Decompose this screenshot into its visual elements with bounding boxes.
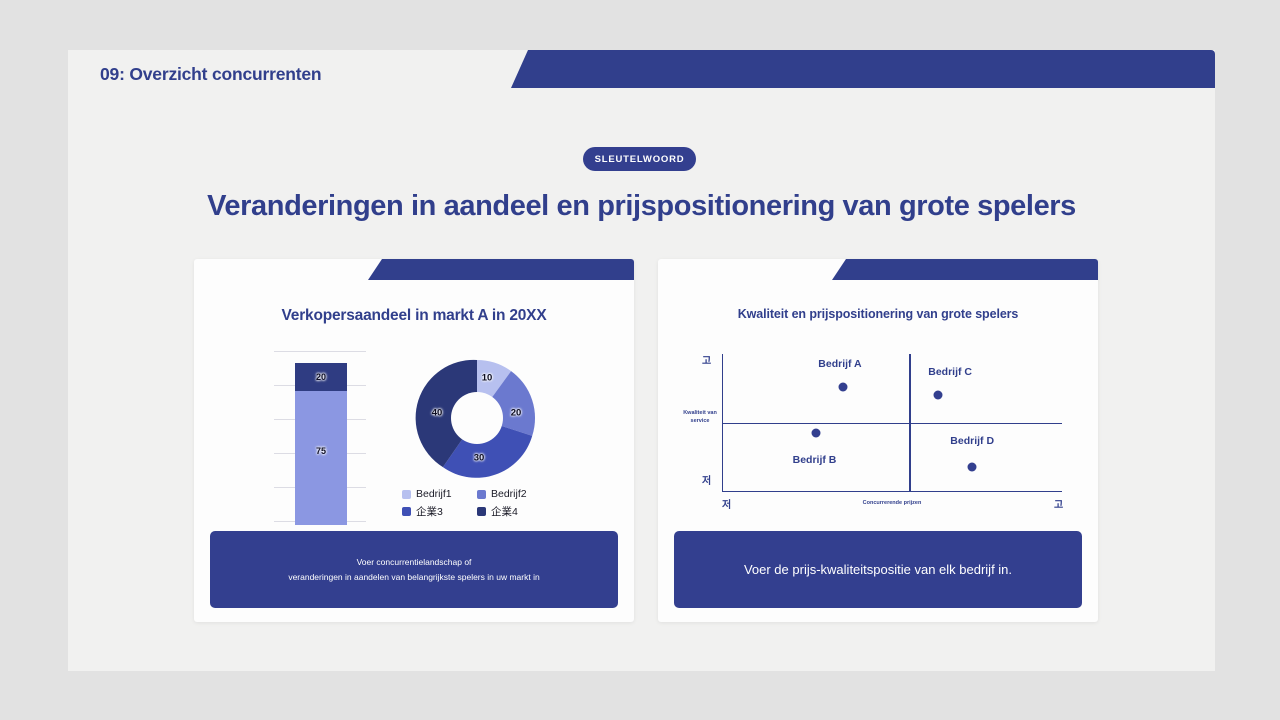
footer-text: Voer de prijs-kwaliteitspositie van elk … — [744, 562, 1012, 577]
legend-swatch-icon — [477, 490, 486, 499]
legend-item: Bedrijf1 — [402, 488, 467, 500]
headline: Veranderingen in aandeel en prijspositio… — [68, 190, 1215, 223]
scatter-label-c: Bedrijf C — [928, 366, 972, 378]
quadrant-scatter-chart: Kwaliteit van service Concurrerende prij… — [680, 346, 1080, 531]
y-axis-label: Kwaliteit van service — [680, 410, 720, 426]
card-market-share: Verkopersaandeel in markt A in 20XX 20 7… — [194, 259, 634, 622]
donut-value-2: 30 — [474, 453, 485, 464]
quadrant-horizontal-divider — [723, 423, 1062, 425]
legend-label: Bedrijf2 — [491, 488, 527, 500]
quadrant-plot-area: Bedrijf A Bedrijf C Bedrijf B Bedrijf D — [722, 354, 1062, 492]
bar-value-top: 20 — [316, 372, 326, 382]
header-accent-bar — [511, 50, 1215, 88]
scatter-label-b: Bedrijf B — [793, 454, 837, 466]
page-title: 09: Overzicht concurrenten — [100, 64, 321, 85]
donut-chart: 10 20 30 40 — [415, 356, 539, 480]
legend-label: 企業4 — [491, 504, 518, 519]
scatter-label-d: Bedrijf D — [950, 435, 994, 447]
footer-line-2: veranderingen in aandelen van belangrijk… — [288, 570, 539, 585]
card-footer-note: Voer concurrentielandschap of veranderin… — [210, 531, 618, 608]
scatter-point-b[interactable] — [812, 428, 821, 437]
x-axis-tick-high: 고 — [1054, 496, 1063, 511]
card-title: Verkopersaandeel in markt A in 20XX — [194, 307, 634, 325]
card-title: Kwaliteit en prijspositionering van grot… — [658, 307, 1098, 321]
x-axis-tick-low: 저 — [722, 496, 731, 511]
legend-swatch-icon — [402, 490, 411, 499]
bar-segment-top: 20 — [295, 363, 347, 391]
stacked-bar-chart: 20 75 — [274, 351, 366, 529]
bar-segment-bottom: 75 — [295, 391, 347, 525]
slide-canvas: 09: Overzicht concurrenten SLEUTELWOORD … — [68, 50, 1215, 671]
donut-legend: Bedrijf1 Bedrijf2 企業3 企業4 — [402, 488, 542, 519]
card-footer-note: Voer de prijs-kwaliteitspositie van elk … — [674, 531, 1082, 608]
legend-item: 企業4 — [477, 504, 542, 519]
donut-value-0: 10 — [482, 373, 493, 384]
legend-item: 企業3 — [402, 504, 467, 519]
legend-swatch-icon — [402, 507, 411, 516]
legend-swatch-icon — [477, 507, 486, 516]
legend-item: Bedrijf2 — [477, 488, 542, 500]
status-badge-label: SLEUTELWOORD — [595, 154, 685, 165]
donut-value-1: 20 — [511, 408, 522, 419]
scatter-label-a: Bedrijf A — [818, 358, 861, 370]
y-axis-tick-high: 고 — [702, 352, 711, 367]
status-badge: SLEUTELWOORD — [583, 147, 696, 171]
x-axis-label: Concurrerende prijzen — [722, 500, 1062, 506]
card-tab-accent — [368, 259, 634, 280]
y-axis-tick-low: 저 — [702, 472, 711, 487]
card-positioning-matrix: Kwaliteit en prijspositionering van grot… — [658, 259, 1098, 622]
slide-header: 09: Overzicht concurrenten — [68, 50, 1215, 93]
scatter-point-c[interactable] — [934, 391, 943, 400]
bar-value-bottom: 75 — [316, 446, 326, 456]
donut-value-3: 40 — [432, 408, 443, 419]
legend-label: 企業3 — [416, 504, 443, 519]
card-tab-accent — [832, 259, 1098, 280]
scatter-point-d[interactable] — [968, 463, 977, 472]
scatter-point-a[interactable] — [839, 382, 848, 391]
bar-column: 20 75 — [295, 363, 347, 525]
footer-line-1: Voer concurrentielandschap of — [288, 555, 539, 570]
legend-label: Bedrijf1 — [416, 488, 452, 500]
